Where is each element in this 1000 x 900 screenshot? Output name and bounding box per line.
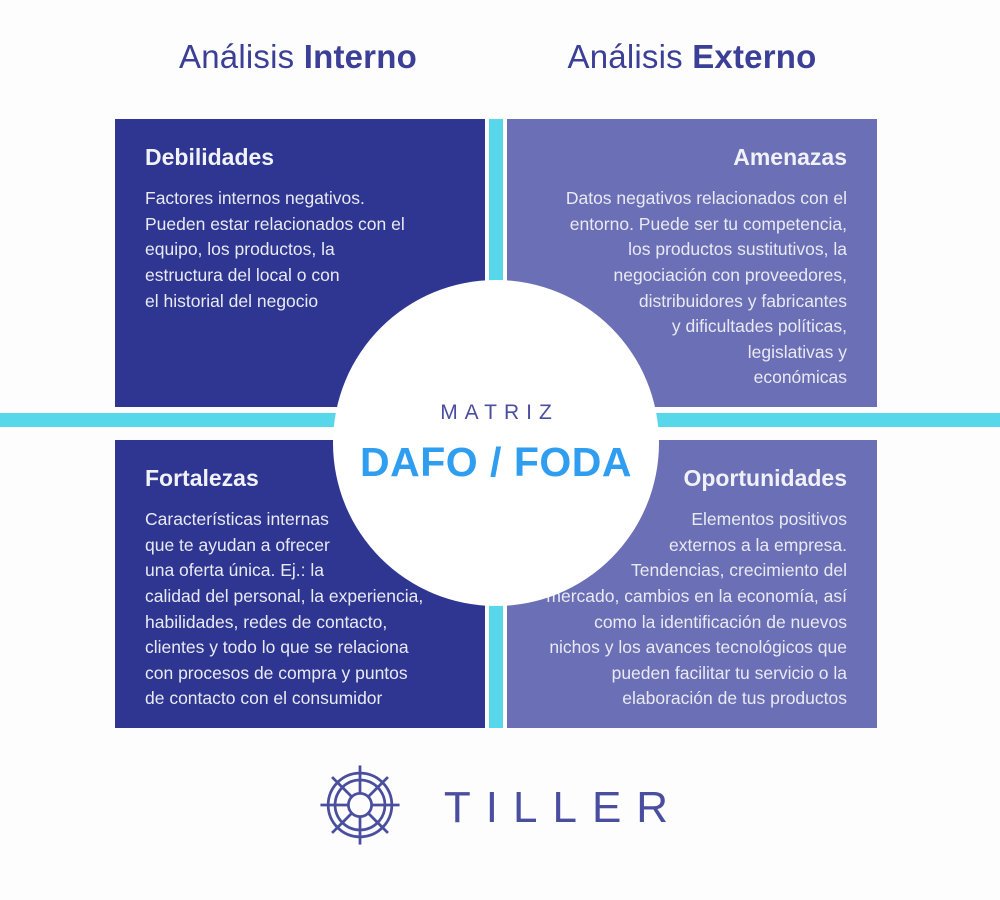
column-title-internal: Análisis Interno: [88, 38, 508, 76]
footer-logo: TILLER: [0, 762, 1000, 853]
ship-wheel-icon: [317, 762, 403, 853]
logo-wordmark: TILLER: [429, 783, 683, 833]
center-title: DAFO / FODA: [360, 439, 632, 486]
quadrant-amenazas-heading: Amenazas: [537, 145, 847, 170]
center-eyebrow: MATRIZ: [433, 401, 559, 425]
column-title-external: Análisis Externo: [482, 38, 902, 76]
center-circle: MATRIZ DAFO / FODA: [333, 280, 659, 606]
quadrant-debilidades-heading: Debilidades: [145, 145, 455, 170]
column-title-internal-prefix: Análisis: [179, 38, 304, 75]
column-title-external-prefix: Análisis: [568, 38, 693, 75]
column-title-external-strong: Externo: [692, 38, 816, 75]
swot-matrix-canvas: Análisis Interno Análisis Externo Debili…: [0, 0, 1000, 900]
column-title-internal-strong: Interno: [304, 38, 417, 75]
